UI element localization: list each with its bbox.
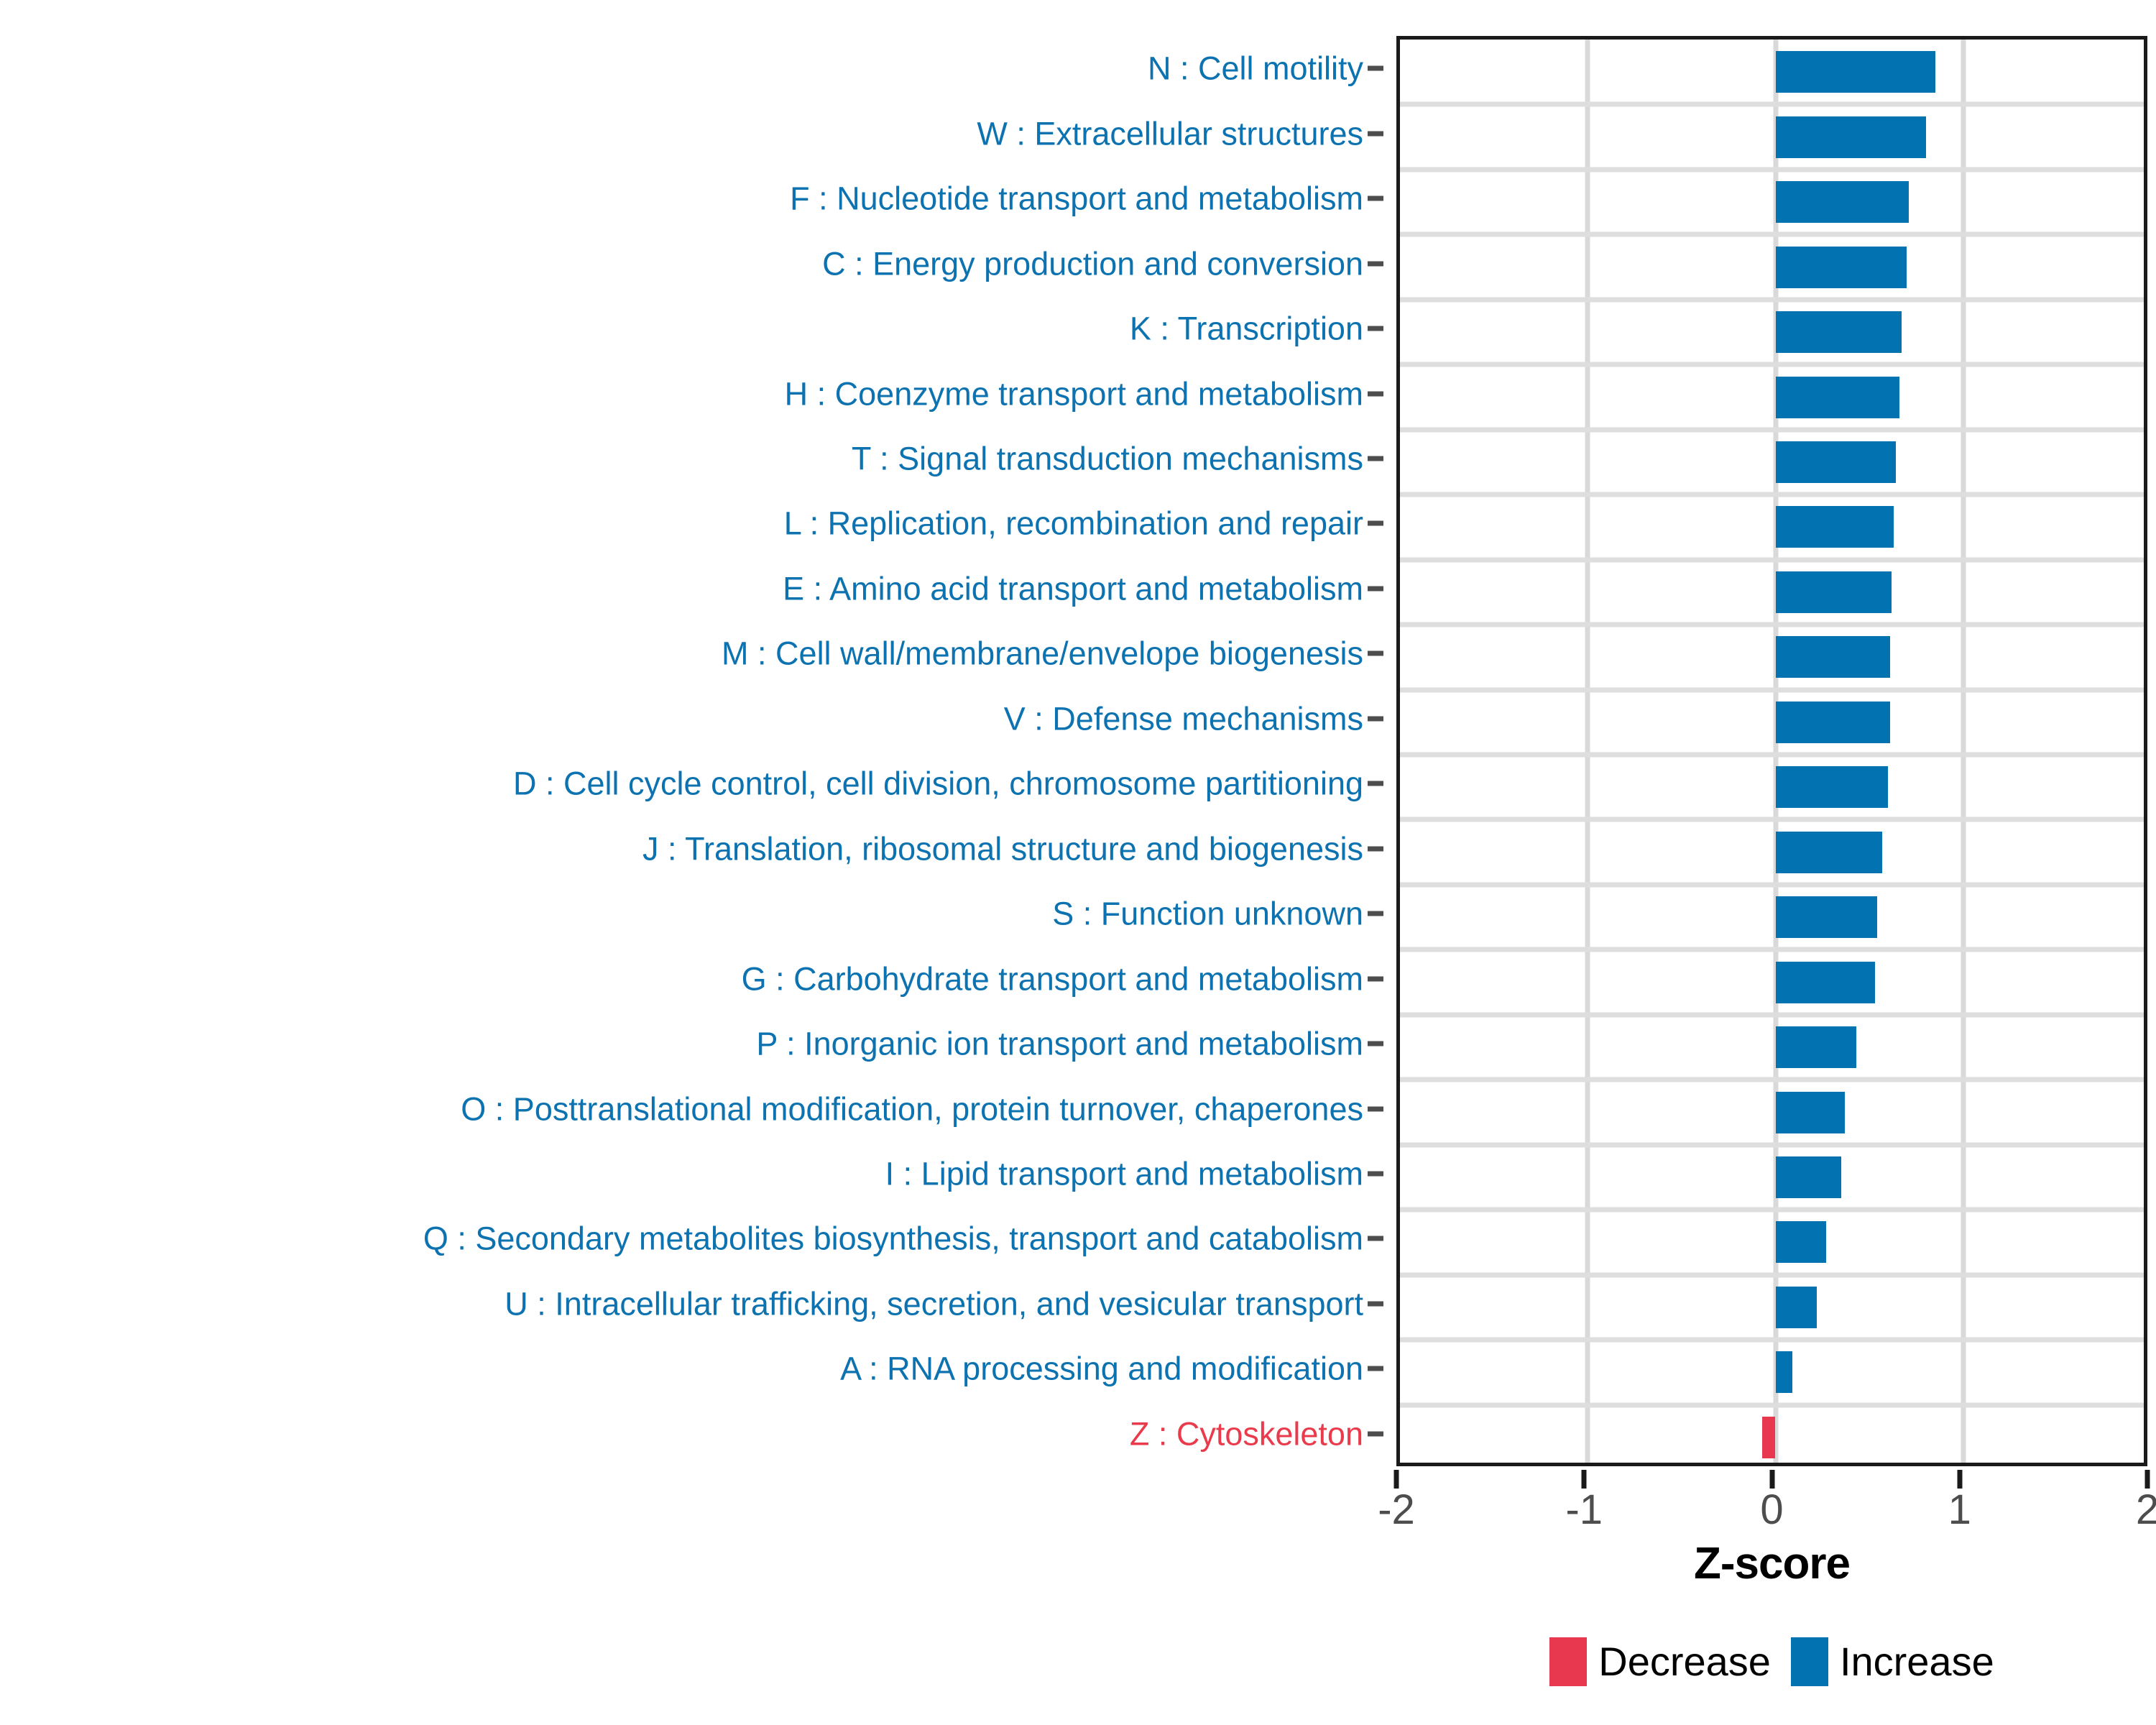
y-axis-tick bbox=[1368, 976, 1383, 981]
y-axis-tick bbox=[1368, 196, 1383, 201]
bar bbox=[1776, 896, 1877, 938]
y-axis-label: U : Intracellular trafficking, secretion… bbox=[505, 1287, 1363, 1320]
y-axis-tick bbox=[1368, 1301, 1383, 1306]
bar bbox=[1776, 116, 1926, 158]
gridline-horizontal bbox=[1400, 1338, 2144, 1343]
y-axis-tick bbox=[1368, 456, 1383, 461]
y-axis-label: L : Replication, recombination and repai… bbox=[784, 507, 1363, 540]
y-axis-label: K : Transcription bbox=[1130, 313, 1363, 345]
x-axis-tick-label: 0 bbox=[1760, 1489, 1783, 1531]
gridline-horizontal bbox=[1400, 947, 2144, 952]
y-axis-tick bbox=[1368, 586, 1383, 591]
y-axis-label: P : Inorganic ion transport and metaboli… bbox=[756, 1028, 1363, 1060]
gridline-horizontal bbox=[1400, 232, 2144, 237]
x-axis-tick-label: -2 bbox=[1378, 1489, 1415, 1531]
gridline-horizontal bbox=[1400, 1077, 2144, 1082]
bar bbox=[1776, 51, 1935, 93]
y-axis-label: M : Cell wall/membrane/envelope biogenes… bbox=[722, 638, 1363, 670]
y-axis-tick bbox=[1368, 326, 1383, 331]
y-axis-label: F : Nucleotide transport and metabolism bbox=[790, 183, 1363, 215]
bar bbox=[1776, 701, 1890, 743]
y-axis-label: Z : Cytoskeleton bbox=[1130, 1417, 1363, 1450]
bar bbox=[1776, 506, 1894, 548]
gridline-horizontal bbox=[1400, 1012, 2144, 1017]
bar bbox=[1776, 1026, 1856, 1068]
gridline-horizontal bbox=[1400, 427, 2144, 432]
legend-label: Increase bbox=[1840, 1642, 1994, 1682]
y-axis-label: C : Energy production and conversion bbox=[822, 247, 1363, 280]
y-axis-label: A : RNA processing and modification bbox=[840, 1353, 1363, 1385]
y-axis-tick bbox=[1368, 1366, 1383, 1371]
plot-area bbox=[1396, 36, 2147, 1466]
bar bbox=[1776, 181, 1909, 223]
gridline-horizontal bbox=[1400, 817, 2144, 822]
y-axis-label: V : Defense mechanisms bbox=[1004, 702, 1363, 735]
bar bbox=[1776, 962, 1875, 1003]
x-axis-tick-label: -1 bbox=[1565, 1489, 1603, 1531]
gridline-horizontal bbox=[1400, 687, 2144, 692]
gridline-horizontal bbox=[1400, 1207, 2144, 1213]
gridline-horizontal bbox=[1400, 557, 2144, 562]
y-axis-tick bbox=[1368, 651, 1383, 656]
legend-swatch-icon bbox=[1791, 1637, 1828, 1686]
y-axis-tick bbox=[1368, 846, 1383, 851]
y-axis-label: H : Coenzyme transport and metabolism bbox=[785, 377, 1363, 410]
y-axis-label: G : Carbohydrate transport and metabolis… bbox=[742, 962, 1363, 995]
bar bbox=[1762, 1417, 1775, 1458]
y-axis-tick bbox=[1368, 131, 1383, 136]
x-axis-title: Z-score bbox=[1396, 1538, 2147, 1589]
bar bbox=[1776, 1351, 1793, 1393]
gridline-horizontal bbox=[1400, 753, 2144, 758]
legend-swatch-icon bbox=[1549, 1637, 1587, 1686]
gridline-horizontal bbox=[1400, 492, 2144, 497]
bar bbox=[1776, 247, 1907, 288]
gridline-vertical bbox=[1961, 40, 1966, 1463]
y-axis-tick bbox=[1368, 1236, 1383, 1241]
y-axis-label: W : Extracellular structures bbox=[977, 117, 1363, 149]
bar bbox=[1776, 377, 1899, 418]
bar bbox=[1776, 1221, 1827, 1263]
bar bbox=[1776, 1287, 1817, 1328]
legend-label: Decrease bbox=[1598, 1642, 1771, 1682]
y-axis-label: D : Cell cycle control, cell division, c… bbox=[513, 768, 1363, 800]
gridline-horizontal bbox=[1400, 1272, 2144, 1277]
x-axis-tick-label: 2 bbox=[2136, 1489, 2156, 1531]
gridline-horizontal bbox=[1400, 882, 2144, 887]
y-axis-tick bbox=[1368, 1041, 1383, 1046]
gridline-horizontal bbox=[1400, 622, 2144, 627]
gridline-horizontal bbox=[1400, 102, 2144, 107]
y-axis-label: N : Cell motility bbox=[1148, 52, 1363, 85]
y-axis-tick bbox=[1368, 1106, 1383, 1111]
y-axis-tick bbox=[1368, 1171, 1383, 1176]
y-axis-tick bbox=[1368, 911, 1383, 916]
bar bbox=[1776, 832, 1883, 873]
y-axis-label: E : Amino acid transport and metabolism bbox=[783, 572, 1363, 604]
y-axis-tick bbox=[1368, 391, 1383, 396]
y-axis-label: O : Posttranslational modification, prot… bbox=[461, 1092, 1363, 1125]
bar bbox=[1776, 311, 1902, 353]
legend-item[interactable]: Decrease bbox=[1549, 1637, 1771, 1686]
y-axis-label: I : Lipid transport and metabolism bbox=[885, 1157, 1363, 1190]
bar bbox=[1776, 1092, 1846, 1133]
gridline-horizontal bbox=[1400, 1142, 2144, 1147]
gridline-horizontal bbox=[1400, 297, 2144, 302]
y-axis-label: T : Signal transduction mechanisms bbox=[852, 442, 1363, 474]
bar bbox=[1776, 636, 1890, 678]
y-axis-tick bbox=[1368, 66, 1383, 71]
y-axis-label: S : Function unknown bbox=[1052, 898, 1363, 930]
chart-legend: DecreaseIncrease bbox=[1396, 1637, 2147, 1686]
bar bbox=[1776, 1156, 1841, 1198]
gridline-vertical bbox=[1585, 40, 1590, 1463]
gridline-horizontal bbox=[1400, 1402, 2144, 1407]
chart-figure: N : Cell motilityW : Extracellular struc… bbox=[0, 0, 2156, 1725]
y-axis-tick bbox=[1368, 1431, 1383, 1436]
y-axis-label: J : Translation, ribosomal structure and… bbox=[642, 832, 1363, 865]
y-axis-tick bbox=[1368, 781, 1383, 786]
y-axis-label: Q : Secondary metabolites biosynthesis, … bbox=[423, 1223, 1363, 1255]
y-axis-tick bbox=[1368, 261, 1383, 266]
bar bbox=[1776, 766, 1889, 808]
y-axis-labels: N : Cell motilityW : Extracellular struc… bbox=[0, 36, 1383, 1466]
bar bbox=[1776, 441, 1896, 483]
gridline-horizontal bbox=[1400, 362, 2144, 367]
gridline-horizontal bbox=[1400, 167, 2144, 172]
y-axis-tick bbox=[1368, 716, 1383, 721]
bar bbox=[1776, 571, 1892, 613]
legend-item[interactable]: Increase bbox=[1791, 1637, 1994, 1686]
x-axis-tick-label: 1 bbox=[1948, 1489, 1971, 1531]
y-axis-tick bbox=[1368, 521, 1383, 526]
